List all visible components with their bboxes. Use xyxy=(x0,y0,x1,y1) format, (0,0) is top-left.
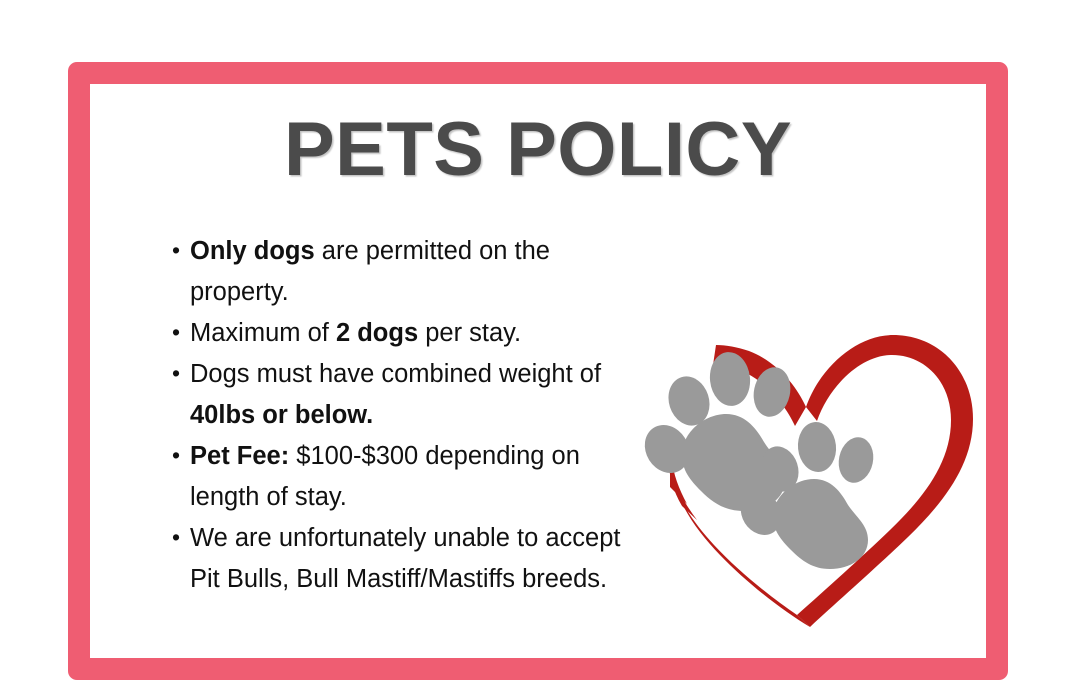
emphasis-pet-fee-label: Pet Fee: xyxy=(190,442,289,470)
policy-list: Only dogs are permitted on the property.… xyxy=(172,231,622,600)
list-item: Dogs must have combined weight of 40lbs … xyxy=(172,354,622,436)
list-item: Pet Fee: $100-$300 depending on length o… xyxy=(172,436,622,518)
emphasis-only-dogs: Only dogs xyxy=(190,237,315,265)
list-item: Only dogs are permitted on the property. xyxy=(172,231,622,313)
emphasis-weight-limit: 40lbs or below. xyxy=(190,401,373,429)
list-item: We are unfortunately unable to accept Pi… xyxy=(172,518,622,600)
pets-policy-poster: PETS POLICY Only dogs are permitted on t… xyxy=(0,0,1080,700)
bullet-text-pet-fee: Pet Fee: $100-$300 depending on length o… xyxy=(190,442,580,511)
bullet-post-maximum: per stay. xyxy=(418,319,521,347)
list-item: Maximum of 2 dogs per stay. xyxy=(172,313,622,354)
bullet-text-breeds: We are unfortunately unable to accept Pi… xyxy=(190,524,620,593)
emphasis-two-dogs: 2 dogs xyxy=(336,319,418,347)
page-title: PETS POLICY xyxy=(90,112,986,188)
bullet-pre-weight: Dogs must have combined weight of xyxy=(190,360,601,388)
bullet-text-weight: Dogs must have combined weight of 40lbs … xyxy=(190,360,601,429)
bullet-text-maximum: Maximum of 2 dogs per stay. xyxy=(190,319,521,347)
poster-frame: PETS POLICY Only dogs are permitted on t… xyxy=(68,62,1008,680)
bullet-text-only-dogs: Only dogs are permitted on the property. xyxy=(190,237,550,306)
bullet-pre-maximum: Maximum of xyxy=(190,319,336,347)
heart-with-paw-prints-graphic xyxy=(625,289,985,629)
